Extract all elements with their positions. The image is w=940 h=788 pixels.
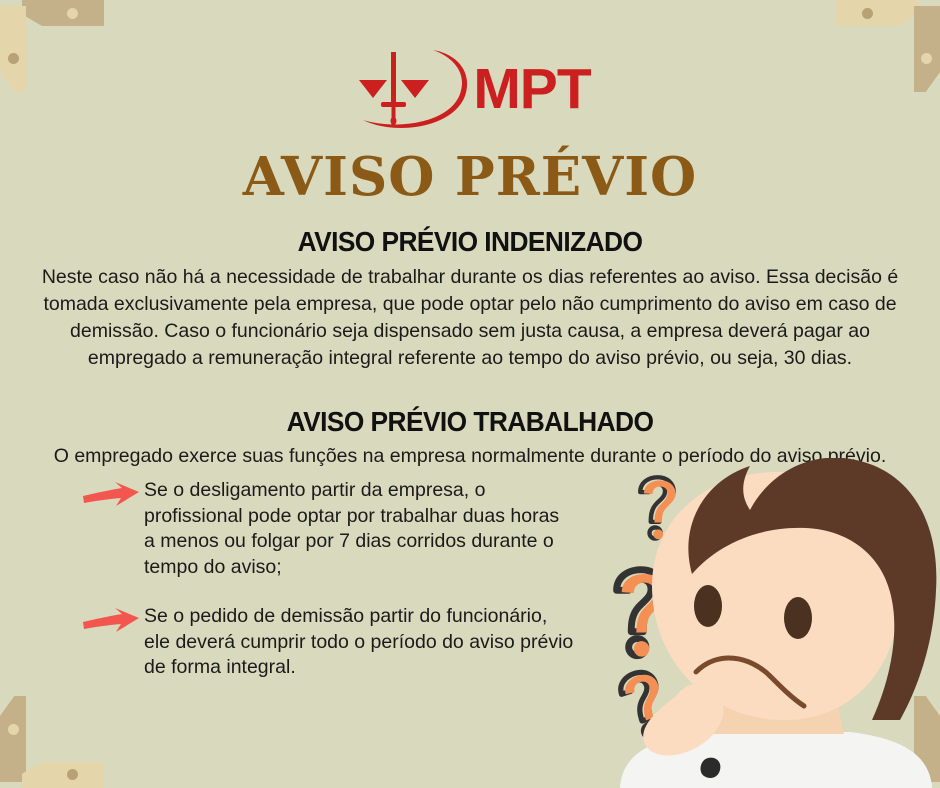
corner-band-top-right-horizontal: [836, 0, 918, 26]
section-heading-indenizado: AVISO PRÉVIO INDENIZADO: [28, 228, 912, 256]
corner-band-dot: [8, 724, 19, 735]
eye-right: [784, 597, 812, 639]
corner-band-dot: [67, 769, 78, 780]
section-heading-trabalhado: AVISO PRÉVIO TRABALHADO: [28, 408, 912, 436]
section-body-indenizado: Neste caso não há a necessidade de traba…: [34, 264, 906, 372]
corner-band-dot: [862, 8, 873, 19]
confused-man-illustration: [600, 458, 940, 788]
bullet-item: Se o desligamento partir da empresa, o p…: [82, 478, 559, 580]
sword-and-scales-emblem-icon: [349, 46, 477, 132]
bullet-text: Se o desligamento partir da empresa, o p…: [140, 478, 559, 580]
mpt-logo: MPT: [0, 46, 940, 132]
mpt-logo-text: MPT: [473, 61, 590, 118]
eye-left: [694, 585, 722, 627]
bullet-text: Se o pedido de demissão partir do funcio…: [140, 604, 573, 681]
bullet-item: Se o pedido de demissão partir do funcio…: [82, 604, 573, 681]
arrow-right-icon: [82, 608, 140, 634]
corner-band-top-left-horizontal: [22, 0, 104, 26]
poster-canvas: MPT AVISO PRÉVIO AVISO PRÉVIO INDENIZADO…: [0, 0, 940, 788]
corner-band-bottom-left-vertical: [0, 696, 26, 782]
page-title: AVISO PRÉVIO: [0, 151, 940, 204]
corner-band-bottom-left-horizontal: [22, 762, 104, 788]
arrow-right-icon: [82, 482, 140, 508]
corner-band-dot: [67, 8, 78, 19]
